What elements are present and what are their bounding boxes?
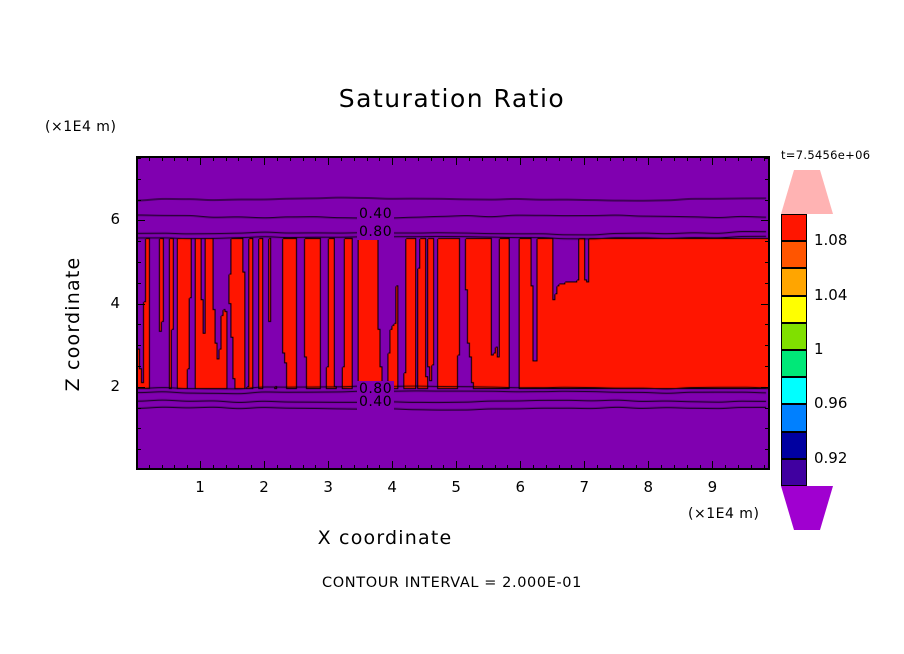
axis-tick <box>546 465 547 470</box>
contour-field-canvas <box>138 158 768 468</box>
axis-tick <box>712 461 713 470</box>
axis-tick <box>264 461 265 470</box>
axis-tick <box>765 262 770 263</box>
axis-tick <box>328 461 329 470</box>
axis-tick <box>136 408 141 409</box>
contour-interval-caption: CONTOUR INTERVAL = 2.000E-01 <box>0 575 904 591</box>
colorbar-top-arrow <box>781 170 833 214</box>
axis-tick <box>725 465 726 470</box>
axis-tick <box>405 465 406 470</box>
axis-tick <box>765 283 770 284</box>
axis-tick <box>765 324 770 325</box>
colorbar-tick-label: 1.08 <box>814 231 847 249</box>
axis-tick <box>149 465 150 470</box>
chart-title: Saturation Ratio <box>0 84 904 113</box>
axis-tick <box>584 156 585 165</box>
axis-tick <box>367 156 368 161</box>
axis-tick <box>213 156 214 161</box>
colorbar-tick-label: 0.96 <box>814 394 847 412</box>
axis-tick <box>623 156 624 161</box>
x-tick-label: 3 <box>313 478 343 496</box>
colorbar-band <box>781 350 807 377</box>
contour-label: 0.40 <box>357 394 394 410</box>
axis-tick <box>469 465 470 470</box>
axis-tick <box>136 345 141 346</box>
axis-tick <box>495 156 496 161</box>
axis-tick <box>213 465 214 470</box>
axis-tick <box>687 465 688 470</box>
axis-tick <box>174 465 175 470</box>
y-axis-title: Z coordinate <box>62 209 84 439</box>
colorbar-tick-label: 0.92 <box>814 449 847 467</box>
axis-tick <box>367 465 368 470</box>
axis-tick <box>136 324 141 325</box>
axis-tick <box>571 156 572 161</box>
axis-tick <box>136 200 141 201</box>
time-label: t=7.5456e+06 <box>781 148 870 162</box>
axis-tick <box>738 156 739 161</box>
axis-tick <box>661 156 662 161</box>
axis-tick <box>431 465 432 470</box>
y-axis-unit-label: (×1E4 m) <box>45 119 116 135</box>
axis-tick <box>226 156 227 161</box>
axis-tick <box>187 156 188 161</box>
colorbar-band <box>781 323 807 350</box>
axis-tick <box>761 387 770 388</box>
axis-tick <box>431 156 432 161</box>
axis-tick <box>354 465 355 470</box>
axis-tick <box>200 156 201 165</box>
axis-tick <box>149 156 150 161</box>
axis-tick <box>761 220 770 221</box>
axis-tick <box>136 158 141 159</box>
axis-tick <box>597 465 598 470</box>
axis-tick <box>238 156 239 161</box>
axis-tick <box>315 156 316 161</box>
x-tick-label: 4 <box>377 478 407 496</box>
axis-tick <box>765 158 770 159</box>
axis-tick <box>405 156 406 161</box>
axis-tick <box>303 465 304 470</box>
axis-tick <box>765 179 770 180</box>
axis-tick <box>136 366 141 367</box>
x-axis-title: X coordinate <box>0 527 770 549</box>
axis-tick <box>546 156 547 161</box>
axis-tick <box>765 366 770 367</box>
axis-tick <box>507 156 508 161</box>
axis-tick <box>559 156 560 161</box>
axis-tick <box>648 156 649 165</box>
axis-tick <box>226 465 227 470</box>
axis-tick <box>674 465 675 470</box>
axis-tick <box>200 461 201 470</box>
axis-tick <box>187 465 188 470</box>
axis-tick <box>341 156 342 161</box>
axis-tick <box>162 465 163 470</box>
colorbar-band <box>781 459 807 486</box>
axis-tick <box>700 156 701 161</box>
contour-label: 0.80 <box>357 224 394 240</box>
x-tick-label: 7 <box>569 478 599 496</box>
axis-tick <box>315 465 316 470</box>
axis-tick <box>443 156 444 161</box>
axis-tick <box>636 156 637 161</box>
axis-tick <box>520 156 521 165</box>
axis-tick <box>136 283 141 284</box>
x-tick-label: 9 <box>697 478 727 496</box>
axis-tick <box>623 465 624 470</box>
axis-tick <box>700 465 701 470</box>
axis-tick <box>482 156 483 161</box>
axis-tick <box>520 461 521 470</box>
axis-tick <box>162 156 163 161</box>
axis-tick <box>251 156 252 161</box>
axis-tick <box>392 461 393 470</box>
axis-tick <box>559 465 560 470</box>
axis-tick <box>661 465 662 470</box>
axis-tick <box>765 449 770 450</box>
axis-tick <box>495 465 496 470</box>
colorbar-band <box>781 214 807 241</box>
colorbar-tick-label: 1 <box>814 340 824 358</box>
axis-tick <box>765 408 770 409</box>
x-tick-label: 8 <box>633 478 663 496</box>
axis-tick <box>136 179 141 180</box>
axis-tick <box>761 304 770 305</box>
axis-tick <box>712 156 713 165</box>
axis-tick <box>136 387 145 388</box>
axis-tick <box>751 465 752 470</box>
axis-tick <box>648 461 649 470</box>
axis-tick <box>174 156 175 161</box>
colorbar-band <box>781 268 807 295</box>
axis-tick <box>765 241 770 242</box>
axis-tick <box>687 156 688 161</box>
axis-tick <box>765 428 770 429</box>
axis-tick <box>725 156 726 161</box>
axis-tick <box>443 465 444 470</box>
axis-tick <box>456 156 457 165</box>
axis-tick <box>136 449 141 450</box>
axis-tick <box>379 465 380 470</box>
axis-tick <box>303 156 304 161</box>
axis-tick <box>418 156 419 161</box>
axis-tick <box>610 465 611 470</box>
axis-tick <box>277 156 278 161</box>
x-tick-label: 1 <box>185 478 215 496</box>
x-tick-label: 6 <box>505 478 535 496</box>
axis-tick <box>674 156 675 161</box>
axis-tick <box>136 304 145 305</box>
x-tick-label: 2 <box>249 478 279 496</box>
colorbar-band <box>781 432 807 459</box>
axis-tick <box>136 220 145 221</box>
axis-tick <box>636 465 637 470</box>
axis-tick <box>533 465 534 470</box>
axis-tick <box>264 156 265 165</box>
colorbar <box>781 214 807 486</box>
axis-tick <box>765 345 770 346</box>
axis-tick <box>290 156 291 161</box>
x-tick-label: 5 <box>441 478 471 496</box>
axis-tick <box>418 465 419 470</box>
colorbar-band <box>781 377 807 404</box>
axis-tick <box>765 200 770 201</box>
axis-tick <box>469 156 470 161</box>
x-axis-unit-label: (×1E4 m) <box>688 506 759 522</box>
axis-tick <box>392 156 393 165</box>
axis-tick <box>379 156 380 161</box>
axis-tick <box>251 465 252 470</box>
axis-tick <box>136 241 141 242</box>
axis-tick <box>238 465 239 470</box>
axis-tick <box>136 262 141 263</box>
colorbar-band <box>781 241 807 268</box>
axis-tick <box>482 465 483 470</box>
y-tick-label: 4 <box>96 294 120 312</box>
axis-tick <box>354 156 355 161</box>
axis-tick <box>610 156 611 161</box>
axis-tick <box>751 156 752 161</box>
y-tick-label: 6 <box>96 210 120 228</box>
axis-tick <box>136 428 141 429</box>
axis-tick <box>571 465 572 470</box>
axis-tick <box>328 156 329 165</box>
axis-tick <box>738 465 739 470</box>
axis-tick <box>764 465 765 470</box>
axis-tick <box>597 156 598 161</box>
contour-plot-area <box>136 156 770 470</box>
colorbar-band <box>781 296 807 323</box>
axis-tick <box>584 461 585 470</box>
axis-tick <box>290 465 291 470</box>
y-tick-label: 2 <box>96 377 120 395</box>
axis-tick <box>507 465 508 470</box>
colorbar-band <box>781 404 807 431</box>
axis-tick <box>456 461 457 470</box>
contour-label: 0.40 <box>357 206 394 222</box>
axis-tick <box>277 465 278 470</box>
colorbar-tick-label: 1.04 <box>814 286 847 304</box>
axis-tick <box>533 156 534 161</box>
colorbar-bottom-arrow <box>781 486 833 530</box>
axis-tick <box>341 465 342 470</box>
